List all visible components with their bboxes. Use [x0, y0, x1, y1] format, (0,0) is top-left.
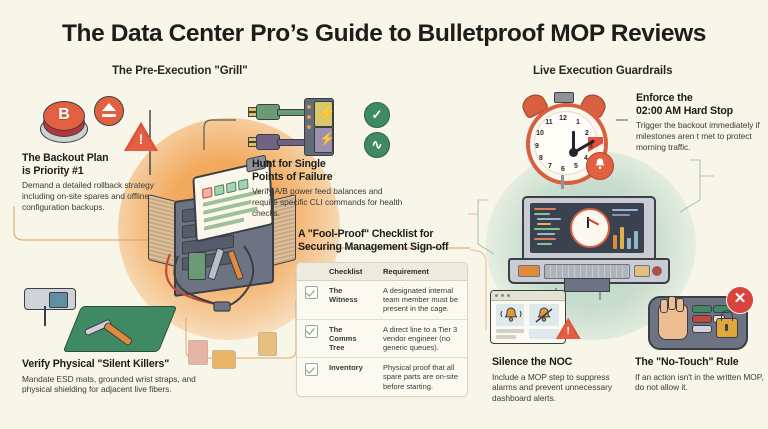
checkbox-icon[interactable] — [305, 325, 318, 338]
esd-mat-icon — [63, 306, 178, 352]
clipboard-checkbox — [202, 187, 213, 199]
plug-pin — [248, 107, 257, 112]
dash-line — [612, 214, 630, 216]
callout-body: Trigger the backout immediately if miles… — [636, 120, 764, 152]
callout-silence-the-noc: Silence the NOC Include a MOP step to su… — [492, 356, 627, 404]
laptop-power-key — [652, 266, 662, 276]
clock-number: 11 — [544, 119, 554, 126]
clock-number: 10 — [535, 130, 545, 137]
clock-number: 1 — [573, 119, 583, 126]
callout-title: Enforce the 02:00 AM Hard Stop — [636, 92, 764, 117]
strap-buckle — [49, 292, 68, 308]
row-name-cell: Inventory — [325, 358, 379, 396]
laptop-touch-area — [518, 265, 540, 277]
eject-bar — [102, 114, 116, 117]
callout-body: If an action isn't in the written MOP, d… — [635, 372, 768, 393]
warning-triangle-icon: ! — [124, 122, 158, 151]
code-line — [537, 233, 555, 235]
laptop-screen — [530, 203, 644, 253]
panel-switch — [692, 305, 712, 313]
code-line — [534, 228, 560, 230]
esd-bench-illustration — [14, 288, 174, 358]
row-requirement-cell: A designated internal team member must b… — [379, 281, 467, 320]
ground-cord — [44, 306, 46, 326]
clock-foot — [561, 175, 564, 189]
chart-bar — [620, 227, 624, 249]
plug-pin — [248, 137, 257, 142]
monitoring-laptop-illustration — [508, 196, 666, 292]
column-header-checklist: Checklist — [325, 263, 379, 281]
row-name-line: Tree — [329, 343, 344, 352]
pdu-cell-b: ⚡ — [314, 127, 333, 153]
clock-number: 2 — [582, 130, 592, 137]
forbidden-x-icon: ✕ — [726, 286, 754, 314]
callout-title: The "No-Touch" Rule — [635, 356, 768, 369]
table-header-row: Checklist Requirement — [297, 263, 467, 281]
esd-wrist-strap-icon — [24, 288, 76, 310]
code-line — [534, 213, 550, 215]
row-name-line: The — [329, 325, 342, 334]
warning-exclamation: ! — [124, 132, 158, 146]
row-checkbox-cell[interactable] — [297, 281, 325, 320]
plug-pin — [248, 112, 257, 117]
pdu-led — [307, 105, 311, 109]
clock-number: 9 — [532, 143, 542, 150]
callout-no-touch-rule: The "No-Touch" Rule If an action isn't i… — [635, 356, 768, 393]
clipboard-checkbox — [214, 184, 225, 196]
power-feed-illustration: ⚡ ⚡ — [238, 100, 358, 156]
code-line — [537, 218, 561, 220]
checklist-title-line: A "Fool-Proof" Checklist for — [298, 228, 433, 240]
window-dot — [495, 294, 498, 297]
row-name-cell: The Witness — [325, 281, 379, 320]
clipboard-checkbox — [238, 179, 249, 191]
clock-number: 7 — [545, 163, 555, 170]
pdu-led — [307, 125, 311, 129]
callout-title: The Backout Plan is Priority #1 — [22, 152, 172, 177]
stop-hand-icon — [658, 304, 688, 340]
callout-title: Silence the NOC — [492, 356, 627, 369]
callout-body: Verify A/B power feed balances and requi… — [252, 186, 407, 218]
alarm-bell-badge-icon — [586, 152, 614, 180]
row-checkbox-cell[interactable] — [297, 319, 325, 358]
power-plug-feed-b — [256, 134, 280, 150]
row-name-cell: The Comms Tree — [325, 319, 379, 358]
bolt-icon: ⚡ — [319, 132, 335, 145]
clock-center-pin — [569, 148, 578, 157]
health-check-ok-icon: ✓ — [364, 102, 390, 128]
document-icon — [258, 332, 277, 356]
hand-finger — [660, 299, 668, 313]
page-title: The Data Center Pro’s Guide to Bulletpro… — [0, 20, 768, 48]
alarm-clock-icon: 12 1 2 3 4 5 6 7 8 9 10 11 — [520, 95, 606, 181]
callout-title-line: 02:00 AM Hard Stop — [636, 105, 733, 117]
clock-number: 12 — [558, 115, 568, 122]
callout-title: Verify Physical "Silent Killers" — [22, 358, 207, 371]
hand-finger — [668, 296, 676, 310]
window-dot — [507, 294, 510, 297]
table-row: The Witness A designated internal team m… — [297, 281, 467, 320]
laptop-keyboard — [544, 264, 630, 279]
power-plug-feed-a — [256, 104, 280, 120]
callout-body: Demand a detailed rollback strategy incl… — [22, 180, 172, 212]
table-row: The Comms Tree A direct line to a Tier 3… — [297, 319, 467, 358]
code-line — [534, 238, 556, 240]
clock-number: 8 — [536, 155, 546, 162]
bolt-icon: ⚡ — [319, 106, 335, 119]
health-pulse-icon: ∿ — [364, 132, 390, 158]
hand-finger — [676, 298, 684, 312]
column-heading-pre-execution: The Pre-Execution "Grill" — [112, 65, 248, 77]
chart-bar — [634, 231, 638, 249]
callout-body: Include a MOP step to suppress alarms an… — [492, 372, 627, 404]
column-header-requirement: Requirement — [379, 263, 467, 281]
row-name-line: The — [329, 286, 342, 295]
eject-triangle — [102, 103, 116, 111]
clipboard-checkbox — [226, 181, 237, 193]
callout-title-line: Hunt for Single — [252, 158, 326, 170]
checkbox-icon[interactable] — [305, 363, 318, 376]
plug-pin — [248, 142, 257, 147]
callout-physical-silent-killers: Verify Physical "Silent Killers" Mandate… — [22, 358, 207, 395]
row-name-line: Comms — [329, 334, 357, 343]
dash-line — [612, 209, 638, 211]
noc-dashboard-window — [490, 290, 566, 344]
dashboard-panel — [529, 329, 559, 339]
dashboard-line — [496, 329, 524, 333]
pdu-cell-a: ⚡ — [314, 101, 333, 127]
folder-icon — [212, 350, 236, 369]
checklist-card: Checklist Requirement The Witness A desi… — [296, 262, 468, 397]
panel-switch — [692, 325, 712, 333]
callout-hard-stop: Enforce the 02:00 AM Hard Stop Trigger t… — [636, 92, 764, 152]
laptop-lid — [522, 196, 656, 264]
row-requirement-cell: Physical proof that all spare parts are … — [379, 358, 467, 396]
row-name-line: Witness — [329, 295, 358, 304]
callout-body: Mandate ESD mats, grounded wrist straps,… — [22, 374, 207, 395]
code-line — [537, 243, 552, 245]
column-heading-live-execution: Live Execution Guardrails — [533, 65, 672, 77]
laptop-stand — [564, 278, 610, 292]
button-cap-label: B — [43, 101, 85, 131]
noc-warning-triangle-icon: ! — [556, 318, 580, 339]
row-requirement-cell: A direct line to a Tier 3 vendor enginee… — [379, 319, 467, 358]
chart-bar — [613, 235, 617, 249]
callout-title-line: Points of Failure — [252, 171, 332, 183]
clock-number: 6 — [558, 166, 568, 173]
callout-title-line: The Backout Plan — [22, 152, 109, 164]
screen-clock-hand — [588, 218, 600, 225]
alarm-bell-muted-icon — [533, 306, 555, 326]
checklist-table-body: The Witness A designated internal team m… — [297, 281, 467, 396]
row-checkbox-cell[interactable] — [297, 358, 325, 396]
checkbox-icon[interactable] — [305, 286, 318, 299]
window-dot — [501, 294, 504, 297]
clock-button — [554, 92, 574, 103]
callout-backout-plan: The Backout Plan is Priority #1 Demand a… — [22, 152, 172, 212]
panel-switch — [692, 315, 712, 323]
checklist-table: Checklist Requirement The Witness A desi… — [297, 263, 467, 396]
callout-title: Hunt for Single Points of Failure — [252, 158, 407, 183]
pdu-led — [307, 115, 311, 119]
dashboard-line — [496, 335, 516, 339]
warning-exclamation: ! — [556, 325, 580, 335]
pdu-icon: ⚡ ⚡ — [304, 98, 334, 156]
screen-clock-widget — [570, 208, 610, 248]
window-titlebar — [491, 291, 565, 301]
checklist-title-line: Securing Management Sign-off — [298, 241, 448, 253]
checklist-title: A "Fool-Proof" Checklist for Securing Ma… — [298, 228, 478, 253]
alarm-bell-icon — [500, 306, 522, 326]
callout-title-line: is Priority #1 — [22, 165, 84, 177]
callout-single-points-of-failure: Hunt for Single Points of Failure Verify… — [252, 158, 407, 218]
checklist-table-head: Checklist Requirement — [297, 263, 467, 281]
code-line — [537, 223, 551, 225]
column-header-check — [297, 263, 325, 281]
eject-icon — [94, 96, 124, 126]
callout-title-line: Enforce the — [636, 92, 693, 104]
chart-bar — [627, 238, 631, 249]
clock-number: 5 — [571, 163, 581, 170]
row-name-line: Inventory — [329, 363, 363, 372]
rack-cables — [152, 232, 307, 318]
table-row: Inventory Physical proof that all spare … — [297, 358, 467, 396]
lock-icon — [716, 318, 738, 338]
infographic-canvas: The Data Center Pro’s Guide to Bulletpro… — [0, 0, 768, 429]
laptop-key-block — [634, 265, 650, 277]
code-line — [534, 208, 556, 210]
emergency-backout-button-icon: B — [40, 99, 86, 145]
